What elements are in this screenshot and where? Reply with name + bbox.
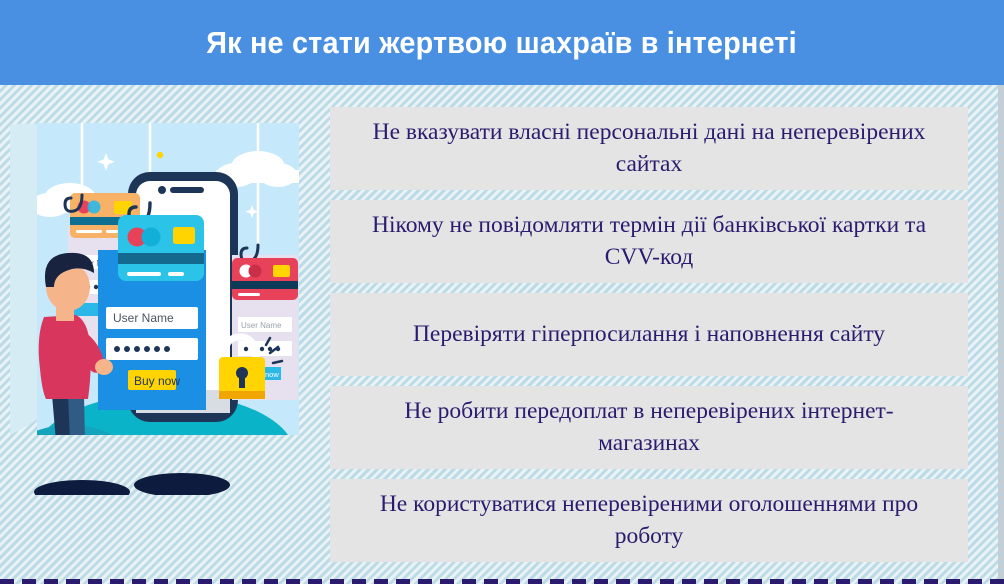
person-hand xyxy=(95,359,113,375)
tip-text-3: Перевіряти гіперпосилання і наповнення с… xyxy=(413,319,885,350)
bottom-dashed-rule xyxy=(0,579,1004,584)
page-title: Як не стати жертвою шахраїв в інтернеті xyxy=(207,25,798,61)
username-label-main: User Name xyxy=(113,311,174,325)
header-banner: Як не стати жертвою шахраїв в інтернеті xyxy=(0,0,1004,85)
credit-card-pink xyxy=(232,258,298,300)
tip-text-1: Не вказувати власні персональні дані на … xyxy=(356,117,942,179)
phone-camera xyxy=(158,186,166,194)
tip-box-5: Не користуватися неперевіреними оголошен… xyxy=(330,479,968,562)
tip-box-4: Не робити передоплат в неперевірених інт… xyxy=(330,386,968,469)
sparkle-dot xyxy=(157,152,163,158)
padlock-keyhole-slot xyxy=(239,376,245,388)
tip-text-4: Не робити передоплат в неперевірених інт… xyxy=(356,396,942,458)
tips-list: Не вказувати власні персональні дані на … xyxy=(330,107,968,562)
tip-box-2: Нікому не повідомляти термін дії банківс… xyxy=(330,200,968,283)
username-label-right: User Name xyxy=(241,321,282,330)
tip-box-3: Перевіряти гіперпосилання і наповнення с… xyxy=(330,293,968,376)
shadow-ellipse xyxy=(134,473,230,495)
tip-text-5: Не користуватися неперевіреними оголошен… xyxy=(356,489,942,551)
buy-now-label: Buy now xyxy=(134,374,180,388)
infographic-page: Як не стати жертвою шахраїв в інтернеті xyxy=(0,0,1004,584)
phishing-scam-illustration: User Name xyxy=(10,95,320,495)
person-leg-front xyxy=(68,395,86,487)
credit-card-cyan xyxy=(118,215,204,281)
padlock-base xyxy=(219,391,265,399)
tip-text-2: Нікому не повідомляти термін дії банківс… xyxy=(356,210,942,272)
phone-speaker xyxy=(170,187,204,193)
tip-box-1: Не вказувати власні персональні дані на … xyxy=(330,107,968,190)
person-sweater xyxy=(39,315,91,399)
shadow-ellipse xyxy=(34,480,130,495)
right-edge-strip xyxy=(998,85,1004,584)
